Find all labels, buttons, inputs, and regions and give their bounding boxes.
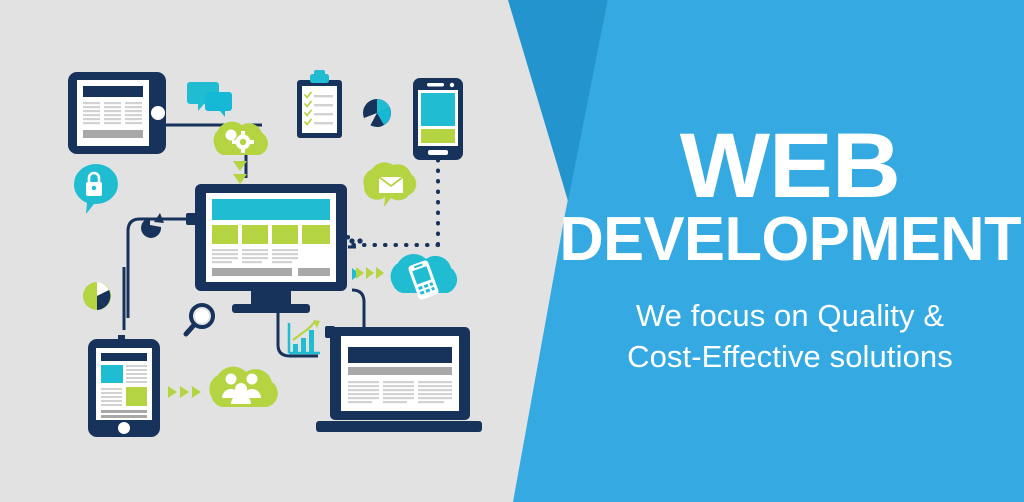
tablet-landscape-icon (68, 72, 166, 154)
laptop-icon (316, 326, 482, 432)
page-title-secondary: DEVELOPMENT (559, 211, 1021, 270)
arrow-right-triangles-icon-2 (168, 386, 201, 398)
magnifier-icon (186, 305, 213, 334)
cloud-gear-icon (214, 122, 268, 184)
page-title-primary: WEB (680, 124, 900, 209)
tagline-line-1: We focus on Quality & (636, 296, 944, 337)
tablet-portrait-icon (88, 335, 160, 437)
cloud-mobile-icon (391, 254, 458, 300)
clipboard-checklist-icon (297, 70, 342, 138)
cloud-users-icon (209, 367, 277, 407)
tagline-line-2: Cost-Effective solutions (627, 337, 953, 378)
arrow-right-triangles-green-icon (356, 267, 384, 279)
pie-chart-icon (363, 99, 391, 127)
headline-panel: WEB DEVELOPMENT We focus on Quality & Co… (556, 0, 1024, 502)
illustration-canvas (0, 0, 556, 502)
web-development-banner: WEB DEVELOPMENT We focus on Quality & Co… (0, 0, 1024, 502)
pie-chart-icon-2 (83, 282, 111, 310)
cursor-icon (141, 213, 164, 238)
bar-chart-growth-icon (289, 320, 320, 353)
lock-speech-bubble-icon (74, 164, 118, 214)
smartphone-icon (413, 78, 463, 160)
chat-bubbles-icon (187, 82, 232, 117)
email-cloud-icon (363, 162, 416, 207)
desktop-monitor-icon (186, 184, 347, 313)
